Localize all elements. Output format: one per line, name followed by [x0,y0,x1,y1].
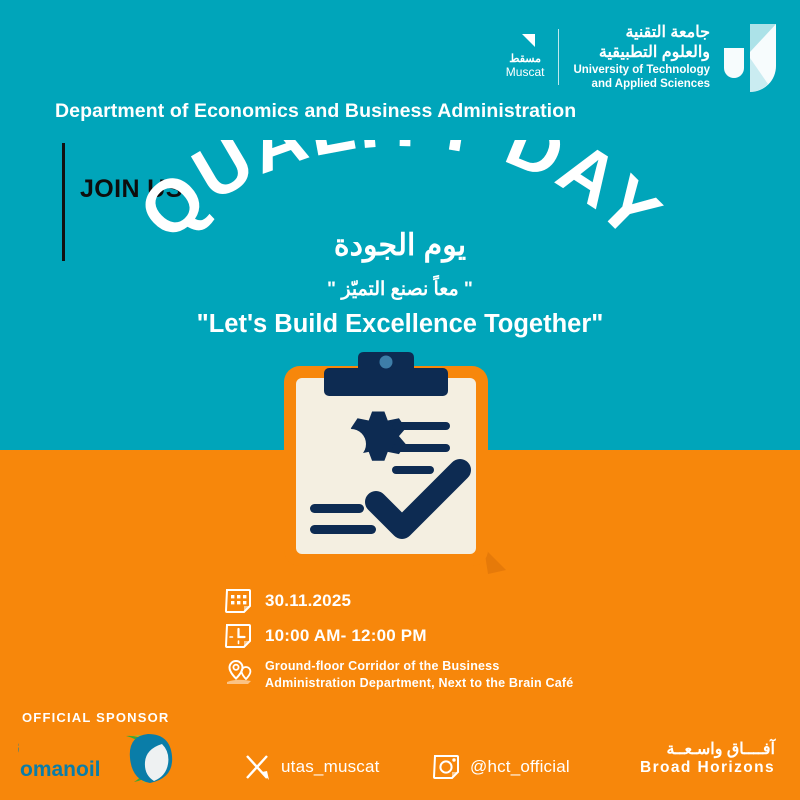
event-location: Ground-floor Corridor of the Business Ad… [265,656,573,692]
event-location-line1: Ground-floor Corridor of the Business [265,658,573,675]
social-x[interactable]: utas_muscat [243,752,380,782]
social-instagram[interactable]: @hct_official [432,752,570,782]
clipboard-clip [324,368,448,396]
text-line [392,444,450,452]
x-twitter-icon[interactable] [243,752,273,782]
logo-divider [558,29,559,85]
event-time: 10:00 AM- 12:00 PM [265,626,427,646]
english-tagline: "Let's Build Excellence Together" [0,310,800,339]
location-pin-icon [224,656,254,686]
event-location-line2: Administration Department, Next to the B… [265,675,573,692]
arabic-title: يوم الجودة [0,228,800,263]
arabic-tagline: " معاً نصنع التميّز " [0,278,800,301]
slogan-english: Broad Horizons [640,759,775,778]
slogan-arabic: آفــــاق واسـعــة [640,740,775,759]
clipboard-checklist-illustration [258,352,514,590]
utas-shield-icon [720,22,782,92]
text-line [310,504,364,513]
poster-canvas: مسقط Muscat جامعة التقنية والعلوم التطبي… [0,0,800,800]
sponsor-label: OFFICIAL SPONSOR [22,710,170,725]
detail-row-date: 30.11.2025 [224,586,644,616]
university-name-arabic-2: والعلوم التطبيقية [573,43,710,63]
social-instagram-handle[interactable]: @hct_official [470,757,570,777]
clock-icon [224,621,254,651]
detail-row-location: Ground-floor Corridor of the Business Ad… [224,656,644,692]
triangle-icon [522,34,535,47]
university-name-english-2: and Applied Sciences [573,77,710,91]
omanoil-logo: نفط عمان omanoil [18,730,188,788]
omanoil-logo-text: omanoil [20,758,101,781]
slogan: آفــــاق واسـعــة Broad Horizons [640,740,775,778]
omanoil-logo-arabic: نفط عمان [18,736,20,759]
clip-hole [380,356,393,369]
campus-name-english: Muscat [506,66,545,80]
text-line [392,422,450,430]
department-title: Department of Economics and Business Adm… [55,100,576,123]
university-name: جامعة التقنية والعلوم التطبيقية Universi… [573,23,710,90]
social-x-handle[interactable]: utas_muscat [281,757,380,777]
event-date: 30.11.2025 [265,591,351,611]
event-details: 30.11.2025 10:00 AM- 12:00 PM Ground-flo… [224,586,644,697]
text-line [392,466,434,474]
university-name-english-1: University of Technology [573,63,710,77]
detail-row-time: 10:00 AM- 12:00 PM [224,621,644,651]
university-name-arabic-1: جامعة التقنية [573,23,710,43]
text-line [310,525,376,534]
calendar-icon [224,586,254,616]
university-logo: مسقط Muscat جامعة التقنية والعلوم التطبي… [506,22,782,92]
campus-block: مسقط Muscat [506,34,559,79]
instagram-icon[interactable] [432,752,462,782]
